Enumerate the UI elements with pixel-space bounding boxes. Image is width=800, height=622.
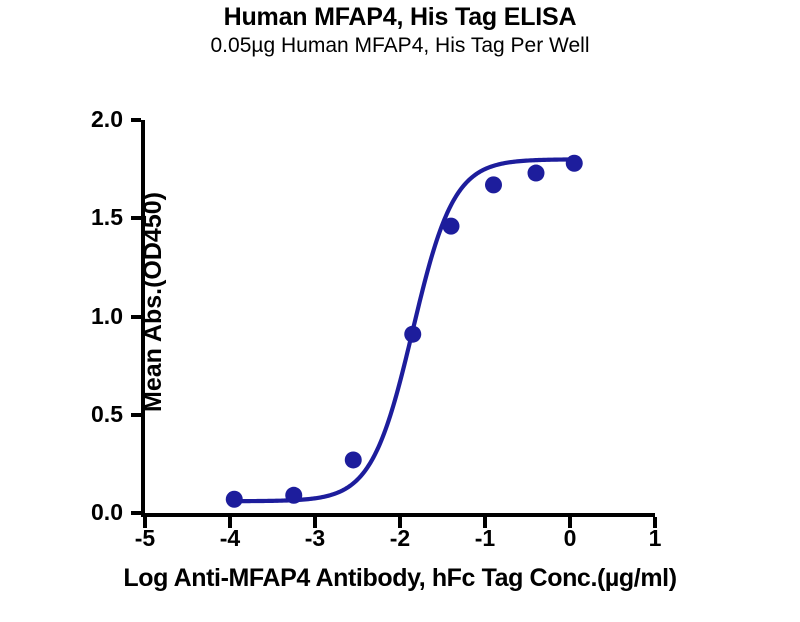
- data-point: [485, 176, 502, 193]
- y-tick-label: 1.0: [61, 305, 123, 328]
- y-tick-label: 1.5: [61, 206, 123, 229]
- x-tick-label: -2: [370, 527, 430, 550]
- x-tick-label: -3: [285, 527, 345, 550]
- x-axis-label: Log Anti-MFAP4 Antibody, hFc Tag Conc.(µ…: [0, 563, 800, 593]
- y-tick-label: 0.5: [61, 403, 123, 426]
- chart-title: Human MFAP4, His Tag ELISA: [0, 2, 800, 32]
- elisa-chart-figure: Human MFAP4, His Tag ELISA 0.05µg Human …: [0, 0, 800, 600]
- data-point: [528, 165, 545, 182]
- data-layer: [145, 120, 655, 513]
- data-point: [285, 487, 302, 504]
- plot-area: 0.00.51.01.52.0 -5-4-3-2-101 Mean Abs.(O…: [145, 120, 655, 513]
- x-tick-label: -4: [200, 527, 260, 550]
- data-point: [404, 326, 421, 343]
- chart-subtitle: 0.05µg Human MFAP4, His Tag Per Well: [0, 33, 800, 59]
- y-tick-label: 0.0: [61, 501, 123, 524]
- fit-curve: [234, 159, 574, 501]
- data-point: [345, 451, 362, 468]
- data-point: [566, 155, 583, 172]
- x-tick-label: -1: [455, 527, 515, 550]
- x-tick-label: 1: [625, 527, 685, 550]
- y-tick-label: 2.0: [61, 108, 123, 131]
- data-point: [443, 218, 460, 235]
- x-tick-label: 0: [540, 527, 600, 550]
- data-point: [226, 491, 243, 508]
